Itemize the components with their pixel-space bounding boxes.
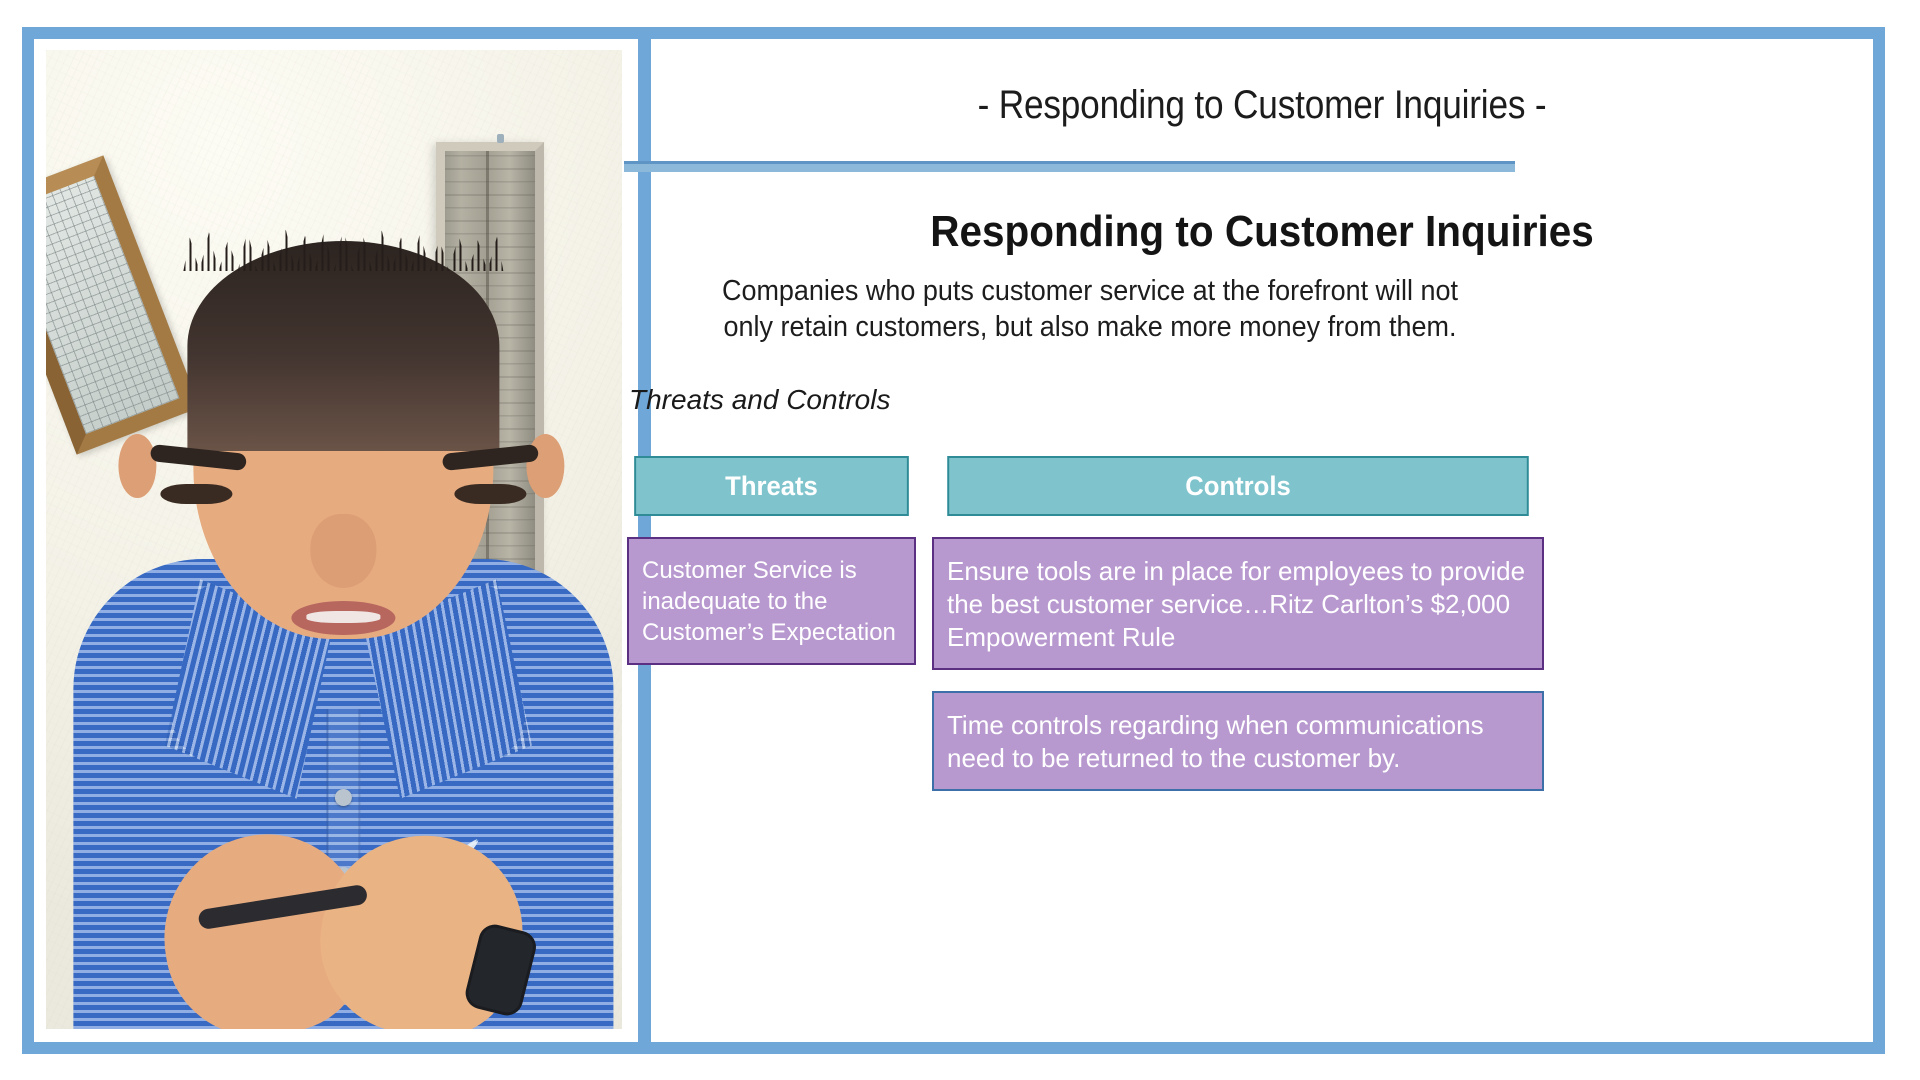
slide-lede-paragraph: Companies who puts customer service at t… — [700, 274, 1479, 345]
control-cell-2: Time controls regarding when communicati… — [932, 691, 1544, 791]
table-header-row: Threats Controls — [627, 456, 1544, 516]
slide-kicker: - Responding to Customer Inquiries - — [724, 83, 1799, 128]
presenter-eye-right — [454, 484, 526, 504]
control-cell-1-text: Ensure tools are in place for employees … — [947, 555, 1529, 654]
threat-cell-1: Customer Service is inadequate to the Cu… — [627, 537, 916, 665]
presenter-nose — [310, 514, 376, 588]
control-cell-2-text: Time controls regarding when communicati… — [947, 709, 1529, 775]
presenter-mouth — [291, 601, 395, 635]
title-divider-rule — [624, 161, 1515, 172]
section-label: Threats and Controls — [629, 384, 890, 416]
presenter-hands — [172, 800, 502, 1029]
table-row: Time controls regarding when communicati… — [627, 691, 1544, 791]
presenter-ear-right — [526, 434, 564, 498]
presenter-eye-left — [160, 484, 232, 504]
threats-controls-table: Threats Controls Customer Service is ina… — [627, 456, 1544, 791]
wall-nail-decor — [497, 134, 504, 143]
presenter-hair — [187, 241, 499, 451]
presenter-video-panel[interactable] — [34, 39, 630, 1042]
table-header-controls: Controls — [947, 456, 1528, 516]
table-row: Customer Service is inadequate to the Cu… — [627, 537, 1544, 670]
presenter-figure — [108, 149, 578, 1029]
control-cell-1: Ensure tools are in place for employees … — [932, 537, 1544, 670]
slide-content-panel: - Responding to Customer Inquiries - Res… — [651, 39, 1873, 1042]
threat-cell-1-text: Customer Service is inadequate to the Cu… — [642, 555, 901, 649]
table-header-threats: Threats — [634, 456, 909, 516]
slide-title: Responding to Customer Inquiries — [700, 207, 1824, 257]
slide-frame: - Responding to Customer Inquiries - Res… — [22, 27, 1885, 1054]
presenter-ear-left — [118, 434, 156, 498]
video-feed[interactable] — [46, 50, 622, 1029]
